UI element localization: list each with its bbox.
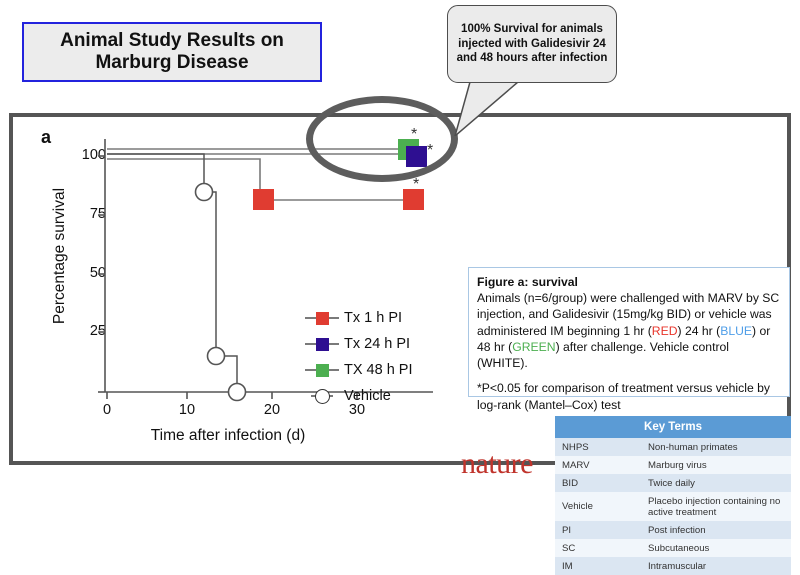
legend-label-vehicle: Vehicle <box>341 388 391 404</box>
key-term: PI <box>555 521 641 539</box>
marker-vehicle-day9 <box>196 184 213 201</box>
callout-pointer-icon <box>430 74 530 136</box>
callout-bubble: 100% Survival for animals injected with … <box>447 5 617 83</box>
legend-marker-tx-1h <box>303 312 341 325</box>
caption-red-word: RED <box>652 324 678 338</box>
key-definition: Twice daily <box>641 474 791 492</box>
slide-title-text: Animal Study Results on Marburg Disease <box>60 30 284 74</box>
legend-marker-tx-24h <box>303 338 341 351</box>
key-definition: Intramuscular <box>641 557 791 575</box>
key-terms-header: Key Terms <box>555 416 791 438</box>
caption-blue-word: BLUE <box>720 324 752 338</box>
slide-root: Animal Study Results on Marburg Disease … <box>0 0 800 475</box>
marker-tx-1h-day23 <box>253 189 274 210</box>
nature-logo: nature <box>461 447 533 481</box>
key-definition: Subcutaneous <box>641 539 791 557</box>
chart-legend: Tx 1 h PI Tx 24 h PI TX 48 h PI <box>303 305 453 409</box>
table-row: PI Post infection <box>555 521 791 539</box>
marker-vehicle-day12 <box>229 384 246 401</box>
figure-caption: Figure a: survival Animals (n=6/group) w… <box>468 267 790 397</box>
legend-marker-tx-48h <box>303 364 341 377</box>
key-term: Vehicle <box>555 492 641 521</box>
legend-marker-vehicle <box>303 389 341 404</box>
significance-asterisk-red: * <box>413 176 419 193</box>
caption-footnote: *P<0.05 for comparison of treatment vers… <box>477 380 781 412</box>
key-definition: Post infection <box>641 521 791 539</box>
caption-green-word: GREEN <box>512 340 555 354</box>
legend-item-vehicle: Vehicle <box>303 383 453 409</box>
caption-heading-bold: Figure a <box>477 275 524 289</box>
legend-item-tx-24h: Tx 24 h PI <box>303 331 453 357</box>
legend-item-tx-1h: Tx 1 h PI <box>303 305 453 331</box>
key-terms-header-row: Key Terms <box>555 416 791 438</box>
key-definition: Non-human primates <box>641 438 791 456</box>
slide-title-line2: Marburg Disease <box>95 52 248 73</box>
caption-heading-rest: : survival <box>524 275 578 289</box>
key-term: NHPS <box>555 438 641 456</box>
table-row: MARV Marburg virus <box>555 456 791 474</box>
caption-body-2: ) 24 hr ( <box>678 324 721 338</box>
legend-label-tx-48h: TX 48 h PI <box>341 362 413 378</box>
slide-title-line1: Animal Study Results on <box>60 30 284 51</box>
key-term: IM <box>555 557 641 575</box>
table-row: NHPS Non-human primates <box>555 438 791 456</box>
table-row: IM Intramuscular <box>555 557 791 575</box>
legend-label-tx-24h: Tx 24 h PI <box>341 336 410 352</box>
legend-item-tx-48h: TX 48 h PI <box>303 357 453 383</box>
caption-heading: Figure a: survival <box>477 274 781 290</box>
key-definition: Placebo injection containing no active t… <box>641 492 791 521</box>
callout-text: 100% Survival for animals injected with … <box>448 22 616 66</box>
table-row: Vehicle Placebo injection containing no … <box>555 492 791 521</box>
table-row: SC Subcutaneous <box>555 539 791 557</box>
legend-label-tx-1h: Tx 1 h PI <box>341 310 402 326</box>
key-definition: Marburg virus <box>641 456 791 474</box>
key-terms-table: Key Terms NHPS Non-human primates MARV M… <box>555 416 791 575</box>
caption-body: Animals (n=6/group) were challenged with… <box>477 290 781 371</box>
table-row: BID Twice daily <box>555 474 791 492</box>
key-term: SC <box>555 539 641 557</box>
slide-title-box: Animal Study Results on Marburg Disease <box>22 22 322 82</box>
marker-vehicle-day11 <box>208 348 225 365</box>
key-term: BID <box>555 474 641 492</box>
key-term: MARV <box>555 456 641 474</box>
